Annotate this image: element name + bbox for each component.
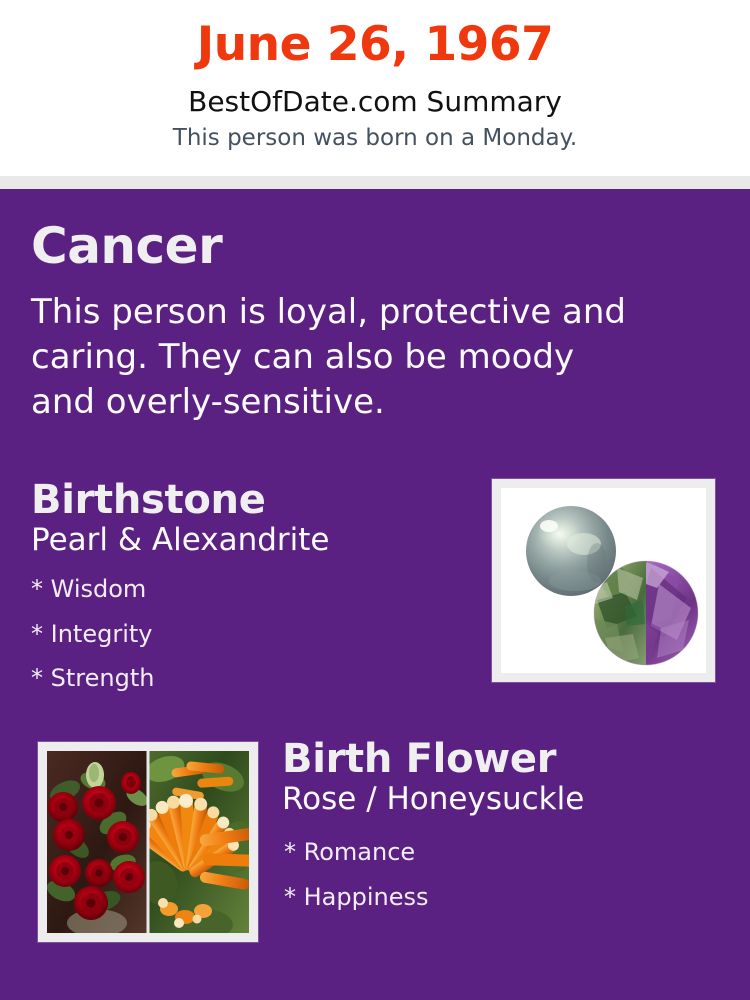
zodiac-sign-name: Cancer — [31, 220, 222, 273]
birthstone-section: Birthstone Pearl & Alexandrite * Wisdom … — [31, 478, 471, 701]
pearl-and-alexandrite-illustration — [501, 488, 706, 673]
list-item: * Wisdom — [31, 567, 471, 612]
list-item: * Integrity — [31, 612, 471, 657]
zodiac-description: This person is loyal, protective and car… — [31, 290, 643, 426]
birth-flower-heading: Birth Flower — [282, 737, 722, 781]
roses-and-honeysuckle-illustration — [47, 751, 249, 933]
birthstone-image — [492, 479, 715, 682]
list-item: * Strength — [31, 656, 471, 701]
birth-flower-value: Rose / Honeysuckle — [282, 782, 722, 818]
birthstone-trait-list: * Wisdom * Integrity * Strength — [31, 567, 471, 702]
header-divider — [0, 176, 750, 189]
birthstone-value: Pearl & Alexandrite — [31, 523, 471, 559]
page-title: June 26, 1967 — [0, 20, 750, 71]
card-header: June 26, 1967 BestOfDate.com Summary Thi… — [0, 0, 750, 176]
weekday-note: This person was born on a Monday. — [0, 126, 750, 152]
site-summary-label: BestOfDate.com Summary — [0, 86, 750, 117]
birth-flower-image — [38, 742, 258, 942]
list-item: * Romance — [282, 830, 722, 875]
birth-flower-section: Birth Flower Rose / Honeysuckle * Romanc… — [282, 737, 722, 919]
bestofdate-summary-card: June 26, 1967 BestOfDate.com Summary Thi… — [0, 0, 750, 1000]
birthstone-heading: Birthstone — [31, 478, 471, 522]
list-item: * Happiness — [282, 875, 722, 920]
birth-flower-trait-list: * Romance * Happiness — [282, 830, 722, 920]
